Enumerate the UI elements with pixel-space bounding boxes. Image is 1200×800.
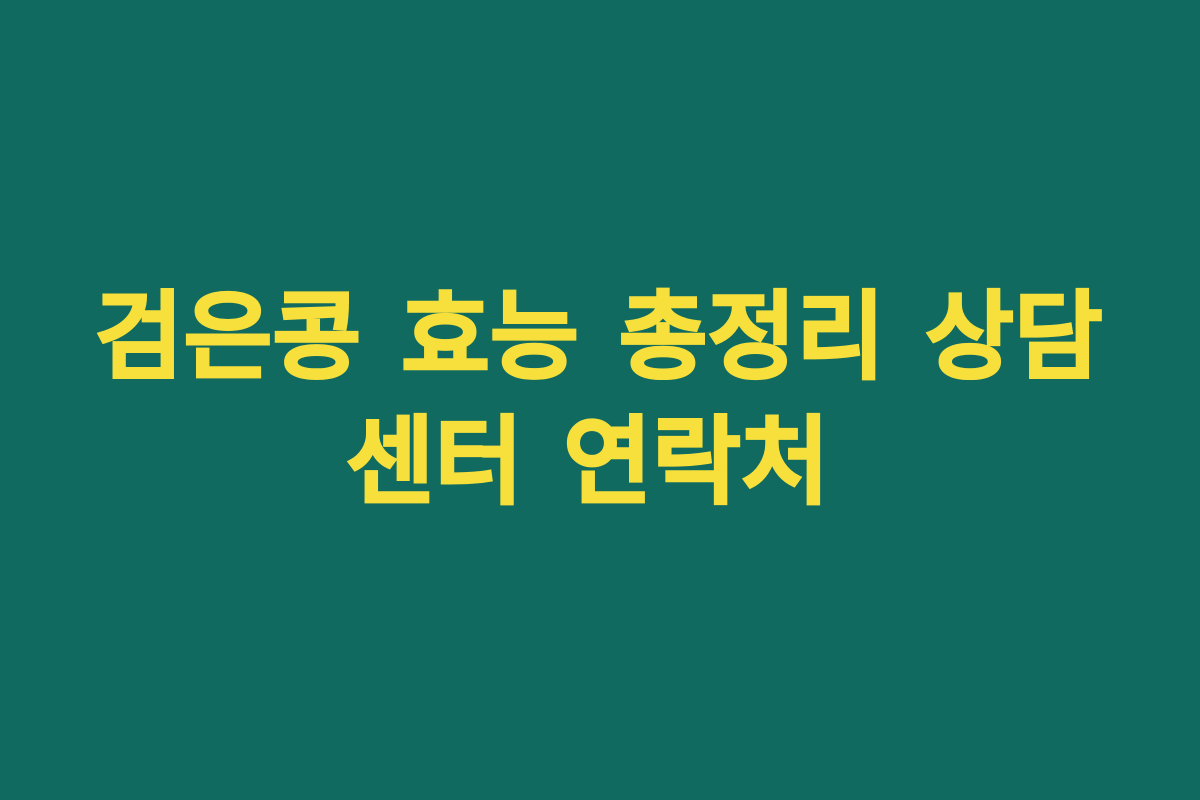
headline-line-2: 센터 연락처 <box>38 400 1138 525</box>
headline-line-1: 검은콩 효능 총정리 상담 <box>49 275 1149 400</box>
page-title: 검은콩 효능 총정리 상담 센터 연락처 <box>50 275 1150 525</box>
banner-canvas: 검은콩 효능 총정리 상담 센터 연락처 <box>0 0 1200 800</box>
